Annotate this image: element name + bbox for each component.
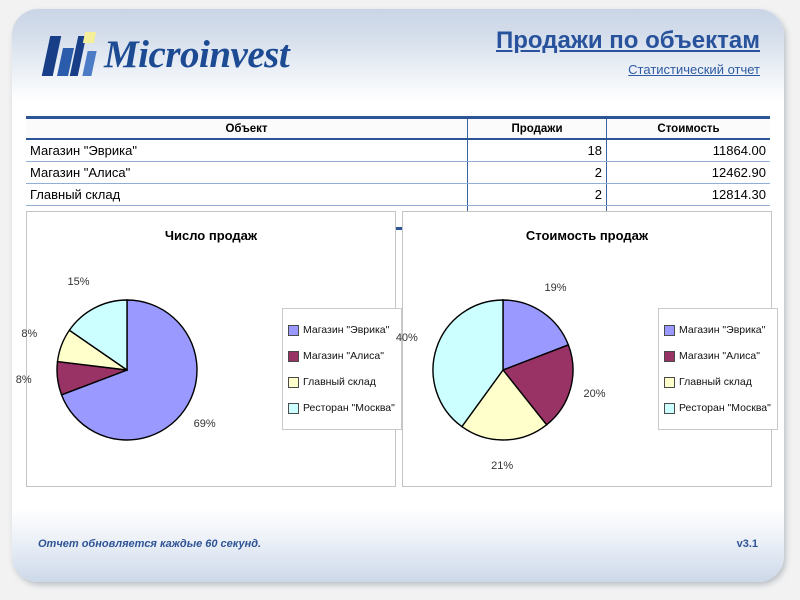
cell-sales: 18 [468,139,607,162]
cell-cost: 12462.90 [607,162,771,184]
table-row: Магазин "Эврика" 18 11864.00 [26,139,770,162]
legend-item[interactable]: Магазин "Эврика" [664,317,771,343]
version-label: v3.1 [737,538,758,550]
pie-percent-label: 40% [396,332,418,344]
legend-label: Главный склад [679,376,752,388]
table-row: Главный склад 2 12814.30 [26,184,770,206]
column-header-cost[interactable]: Стоимость [607,118,771,140]
page-subtitle[interactable]: Статистический отчет [496,62,760,77]
legend-swatch-icon [664,377,675,388]
cell-sales: 2 [468,184,607,206]
legend-swatch-icon [288,377,299,388]
chart-panel-cost: Стоимость продаж 19%20%21%40% Магазин "Э… [402,211,772,487]
legend-label: Магазин "Алиса" [303,350,384,362]
legend-item[interactable]: Магазин "Алиса" [664,343,771,369]
pie-percent-label: 8% [16,374,32,386]
microinvest-bars-logo-icon [44,32,96,76]
legend-item[interactable]: Ресторан "Москва" [288,395,395,421]
legend-label: Магазин "Алиса" [679,350,760,362]
legend-item[interactable]: Главный склад [664,369,771,395]
chart-legend: Магазин "Эврика"Магазин "Алиса"Главный с… [658,308,778,430]
report-card: Microinvest Продажи по объектам Статисти… [12,9,784,582]
legend-label: Магазин "Эврика" [679,324,765,336]
cell-cost: 11864.00 [607,139,771,162]
legend-swatch-icon [664,403,675,414]
chart-title: Стоимость продаж [403,228,771,243]
chart-panel-count: Число продаж 69%8%8%15% Магазин "Эврика"… [26,211,396,487]
charts-row: Число продаж 69%8%8%15% Магазин "Эврика"… [26,211,772,487]
pie-chart-count: 69%8%8%15% [27,262,282,477]
cell-cost: 12814.30 [607,184,771,206]
pie-percent-label: 19% [545,282,567,294]
legend-item[interactable]: Ресторан "Москва" [664,395,771,421]
legend-label: Магазин "Эврика" [303,324,389,336]
legend-item[interactable]: Главный склад [288,369,395,395]
cell-object: Магазин "Эврика" [26,139,468,162]
brand-name: Microinvest [104,35,289,74]
pie-percent-label: 8% [21,328,37,340]
brand-logo: Microinvest [44,26,289,82]
pie-percent-label: 69% [194,418,216,430]
column-header-sales[interactable]: Продажи [468,118,607,140]
legend-swatch-icon [664,351,675,362]
report-footer: Отчет обновляется каждые 60 секунд. v3.1 [12,508,784,582]
legend-label: Ресторан "Москва" [303,402,395,414]
legend-swatch-icon [288,351,299,362]
pie-percent-label: 20% [584,388,606,400]
table-row: Магазин "Алиса" 2 12462.90 [26,162,770,184]
legend-swatch-icon [288,325,299,336]
legend-swatch-icon [288,403,299,414]
legend-swatch-icon [664,325,675,336]
chart-title: Число продаж [27,228,395,243]
page-title[interactable]: Продажи по объектам [496,27,760,55]
cell-object: Главный склад [26,184,468,206]
report-header: Microinvest Продажи по объектам Статисти… [12,9,784,101]
cell-object: Магазин "Алиса" [26,162,468,184]
refresh-note: Отчет обновляется каждые 60 секунд. [38,538,261,550]
cell-sales: 2 [468,162,607,184]
pie-percent-label: 15% [67,276,89,288]
title-block: Продажи по объектам Статистический отчет [496,27,760,77]
legend-label: Главный склад [303,376,376,388]
chart-legend: Магазин "Эврика"Магазин "Алиса"Главный с… [282,308,402,430]
pie-percent-label: 21% [491,460,513,472]
pie-svg [403,262,658,477]
pie-svg [27,262,282,477]
table-header-row: Объект Продажи Стоимость [26,118,770,140]
legend-item[interactable]: Магазин "Эврика" [288,317,395,343]
pie-chart-cost: 19%20%21%40% [403,262,658,477]
legend-label: Ресторан "Москва" [679,402,771,414]
column-header-object[interactable]: Объект [26,118,468,140]
legend-item[interactable]: Магазин "Алиса" [288,343,395,369]
